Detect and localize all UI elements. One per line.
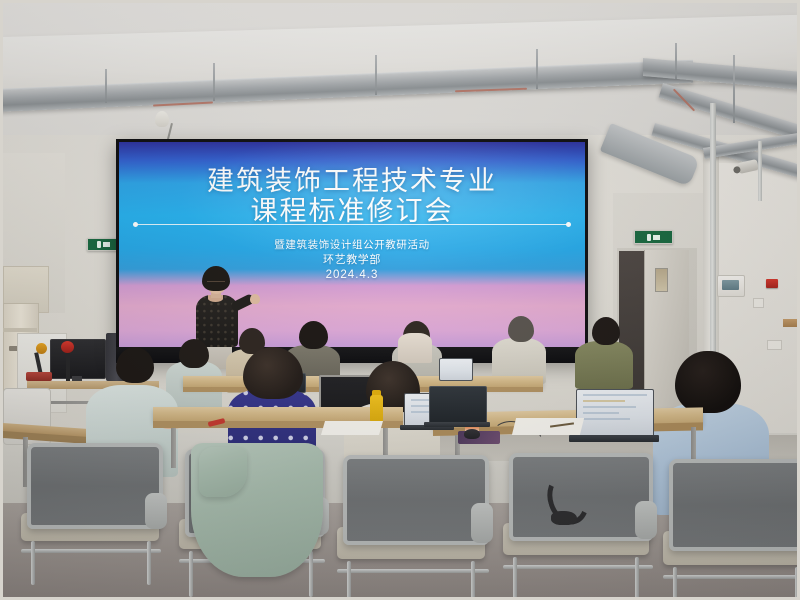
ceiling-sensor-icon — [155, 111, 169, 127]
running-man-icon — [97, 241, 101, 248]
tray-hanger — [375, 55, 377, 95]
microphone-icon — [36, 343, 47, 354]
slide-title-line-2: 课程标准修订会 — [119, 196, 585, 226]
attendee-head — [243, 347, 303, 399]
draped-jacket-sleeve — [199, 447, 247, 497]
laptop-screen-line — [583, 406, 636, 408]
exit-sign — [634, 230, 673, 244]
chair-leg — [31, 541, 35, 585]
paper-sheet — [512, 418, 584, 435]
wood-shelf — [783, 319, 800, 327]
chair-leg — [309, 551, 313, 597]
slide-content: 建筑装饰工程技术专业 课程标准修订会 暨建筑装饰设计组公开教研活动 环艺教学部 … — [119, 142, 585, 283]
desktop-monitor — [50, 339, 106, 379]
chair-leg — [471, 561, 475, 600]
laptop-keyboard[interactable] — [424, 422, 490, 427]
tray-hanger — [733, 55, 735, 123]
meeting-table — [153, 407, 403, 421]
attendee-head — [592, 317, 620, 345]
chair-leg — [673, 567, 677, 600]
attendee-torso — [398, 333, 432, 363]
chair-leg — [147, 541, 151, 585]
yellow-water-bottle[interactable] — [370, 395, 383, 424]
slide-subtitle-line-1: 暨建筑装饰设计组公开教研活动 — [119, 238, 585, 253]
laptop-screen-line — [583, 394, 647, 396]
chair-sled-base — [663, 575, 800, 579]
chair-back — [27, 443, 163, 529]
tray-hanger — [105, 69, 107, 103]
paper-sheet — [321, 421, 383, 435]
chair-sled-base — [21, 549, 161, 553]
laptop-screen-line — [583, 418, 630, 420]
chair-leg — [635, 557, 639, 600]
slide-subtitle-line-2: 环艺教学部 — [119, 253, 585, 268]
attendee-head — [508, 316, 534, 342]
laptop[interactable] — [429, 386, 487, 425]
laptop[interactable] — [439, 358, 473, 381]
chair-arm — [635, 501, 657, 539]
slide-decorative-rule — [137, 224, 567, 225]
photo-scene: 建筑装饰工程技术专业 课程标准修订会 暨建筑装饰设计组公开教研活动 环艺教学部 … — [0, 0, 800, 600]
exit-arrow-icon — [653, 235, 660, 240]
chair-arm — [145, 493, 167, 529]
chair-leg — [189, 551, 193, 597]
fire-alarm-icon — [766, 279, 778, 288]
microphone-icon — [61, 341, 74, 353]
table-leg — [171, 428, 176, 468]
laptop[interactable] — [576, 389, 654, 438]
door-window — [655, 268, 668, 292]
desk-item-red — [26, 372, 52, 381]
presenter-hand — [250, 294, 260, 304]
exit-arrow-icon — [103, 242, 110, 247]
tray-hanger — [213, 63, 215, 101]
wall-outlet — [753, 298, 764, 308]
microphone-stand — [66, 351, 70, 381]
computer-mouse[interactable] — [464, 429, 480, 439]
slide-date: 2024.4.3 — [119, 268, 585, 283]
attendee-head — [116, 347, 154, 383]
chair-leg — [795, 567, 799, 600]
chair-back — [343, 455, 489, 545]
slide-title-line-1: 建筑装饰工程技术专业 — [119, 166, 585, 196]
vertical-pipe-secondary — [758, 141, 762, 201]
chair-sled-base — [503, 565, 653, 569]
chair-leg — [347, 561, 351, 600]
laptop-screen-line — [583, 412, 619, 414]
attendee-head — [179, 339, 209, 368]
tray-hanger — [675, 43, 677, 79]
tray-hanger — [536, 49, 538, 89]
wall-control-panel[interactable] — [717, 275, 745, 297]
chair-sled-base — [337, 569, 489, 573]
laptop-screen-line — [583, 400, 625, 402]
presenter-hair — [202, 266, 230, 291]
shoe — [551, 511, 577, 525]
attendee-head — [299, 321, 328, 349]
cabinet-top — [3, 328, 37, 332]
glasses-icon — [207, 281, 225, 286]
chair-arm — [471, 503, 493, 543]
running-man-icon — [647, 234, 651, 241]
chair-back — [669, 459, 800, 551]
attendee-torso — [575, 341, 633, 389]
attendee-head — [675, 351, 741, 413]
laptop-keyboard[interactable] — [569, 435, 659, 442]
chair-leg — [513, 557, 517, 600]
wall-outlet — [767, 340, 782, 350]
